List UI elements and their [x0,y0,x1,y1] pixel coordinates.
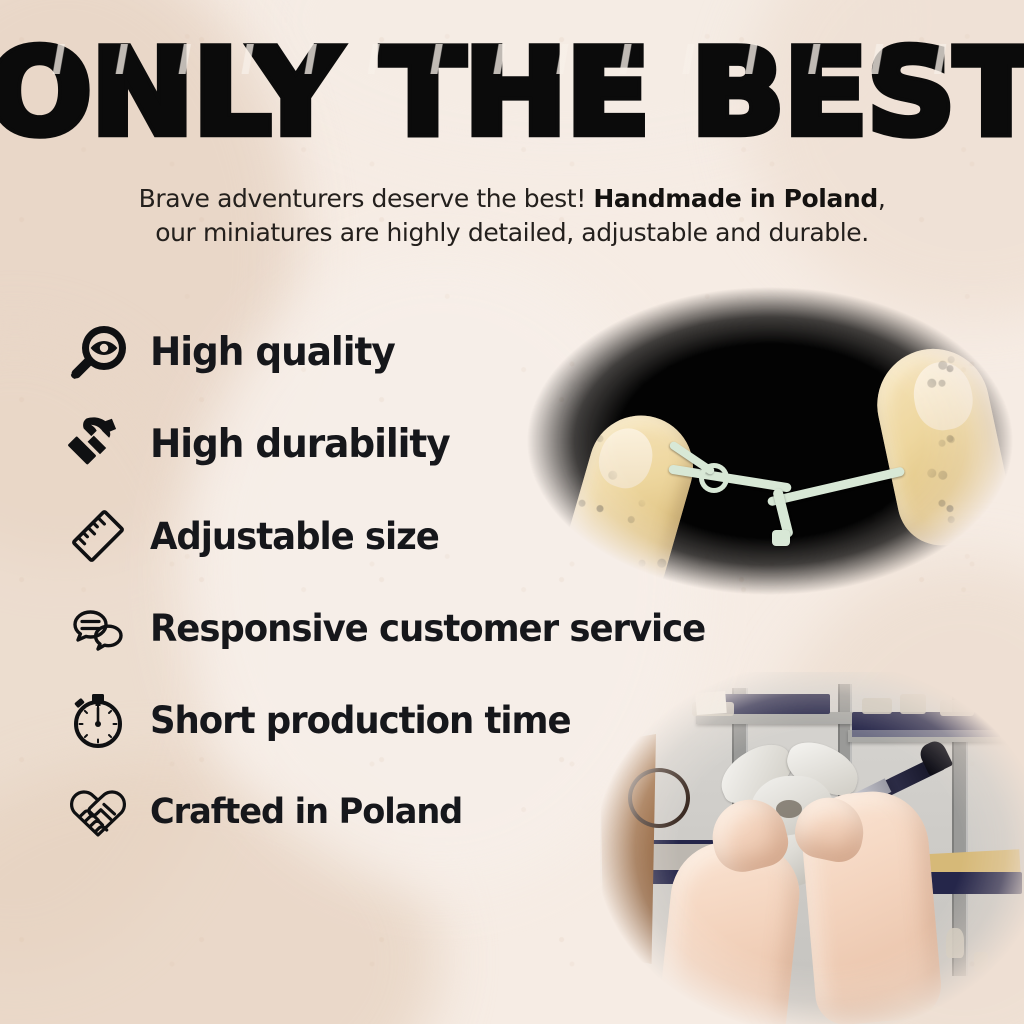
subtitle: Brave adventurers deserve the best! Hand… [60,182,964,249]
miniature-blob [974,952,988,972]
magnifier-eye-icon [62,316,134,388]
feature-list: High quality High durability [62,306,762,858]
page-title-text: ONLY THE BEST [0,34,1024,153]
subtitle-emphasis: Handmade in Poland [593,184,877,213]
miniature-blob [946,928,964,958]
subtitle-text-c: , [878,184,886,213]
miniature-blob [862,698,892,714]
feature-label: Responsive customer service [150,607,705,650]
feature-item-crafted-in-poland: Crafted in Poland [62,766,762,858]
ruler-icon [62,500,134,572]
miniature-blob [900,694,926,714]
page-title: ONLY THE BEST [0,34,1024,146]
feature-item-responsive-customer-service: Responsive customer service [62,582,762,674]
subtitle-line-1: Brave adventurers deserve the best! Hand… [60,182,964,216]
feature-label: High quality [150,330,395,375]
subtitle-line-2: our miniatures are highly detailed, adju… [60,216,964,250]
miniature-blob [940,700,974,716]
subtitle-text-a: Brave adventurers deserve the best! [139,184,594,213]
mini-tray-lip [852,730,1000,737]
feature-item-high-durability: High durability [62,398,762,490]
feature-label: High durability [150,422,450,467]
feature-item-short-production-time: Short production time [62,674,762,766]
promo-poster: ONLY THE BEST Brave adventurers deserve … [0,0,1024,1024]
handshake-heart-icon [62,776,134,848]
feature-item-adjustable-size: Adjustable size [62,490,762,582]
feature-label: Crafted in Poland [150,792,462,832]
feature-item-high-quality: High quality [62,306,762,398]
feature-label: Short production time [150,699,571,742]
feature-label: Adjustable size [150,515,439,558]
stopwatch-icon [62,684,134,756]
hammer-icon [62,408,134,480]
speech-bubbles-icon [62,592,134,664]
